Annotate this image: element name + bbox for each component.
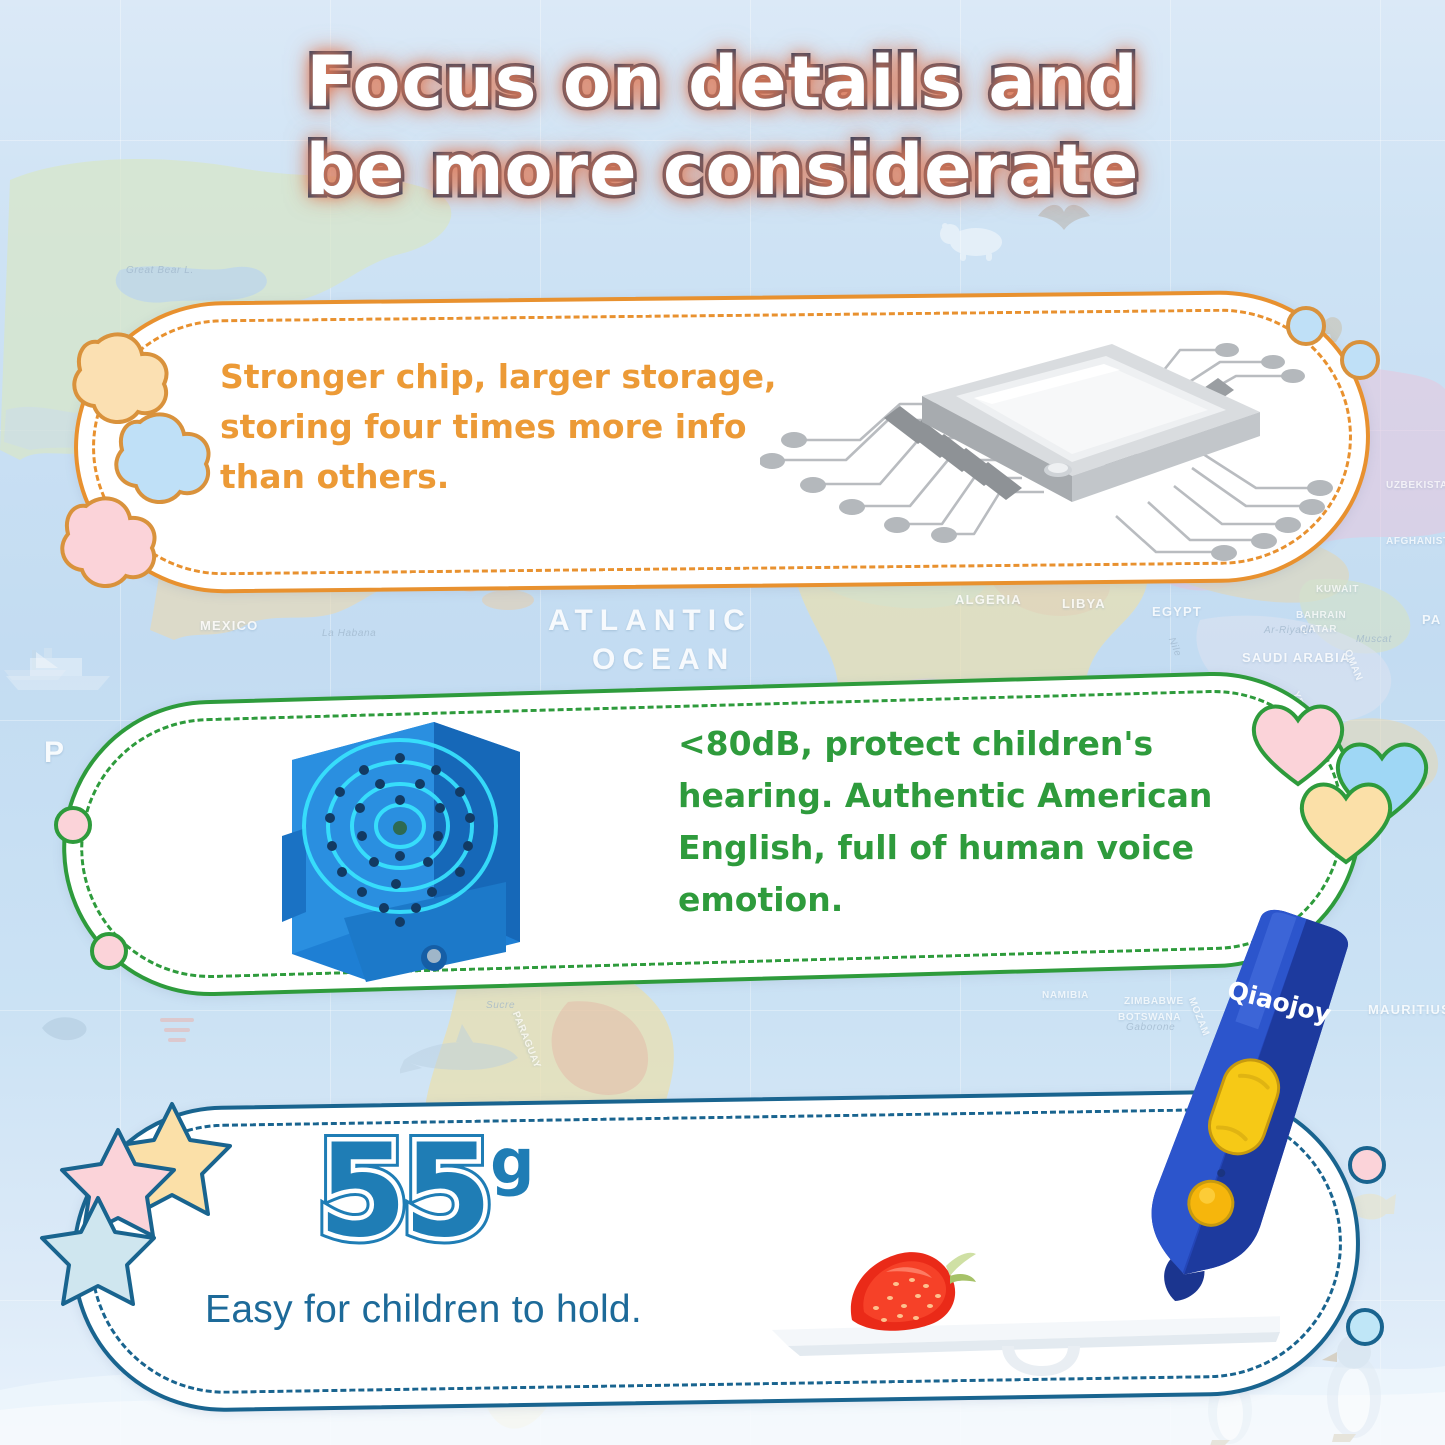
map-label-uzbekistan: UZBEKISTAN <box>1386 480 1445 491</box>
map-label-atlantic: ATLANTIC <box>548 604 752 638</box>
weight-unit: g <box>490 1125 534 1198</box>
heart-yellow-decoration <box>1290 770 1402 870</box>
map-label-great-bear-lake: Great Bear L. <box>126 265 194 276</box>
map-label-atlantic-ocean: OCEAN <box>592 643 735 677</box>
map-label-sucre: Sucre <box>486 1000 515 1011</box>
map-label-kuwait: KUWAIT <box>1316 584 1359 595</box>
audio-card-text: <80dB, protect children's hearing. Authe… <box>678 718 1212 926</box>
map-label-muscat: Muscat <box>1356 634 1392 645</box>
circle-pink-decoration <box>1348 1146 1386 1184</box>
penguin-icon <box>1306 1330 1402 1442</box>
map-label-la-habana: La Habana <box>322 628 376 639</box>
cloud-pink-decoration <box>44 486 172 612</box>
map-label-pa: PA <box>1422 612 1442 627</box>
page-title: Focus on details and be more considerate <box>0 38 1445 214</box>
circle-blue-decoration <box>1286 306 1326 346</box>
circle-blue-decoration <box>1346 1308 1384 1346</box>
circle-pink-decoration <box>90 932 128 970</box>
title-line-1: Focus on details and <box>0 38 1445 126</box>
weight-value: 55 <box>318 1117 488 1266</box>
shark-icon <box>400 1020 520 1084</box>
map-label-saudi-arabia: SAUDI ARABIA <box>1242 650 1351 665</box>
weight-value-display: 55 55 g <box>318 1128 533 1256</box>
circle-pink-decoration <box>54 806 92 844</box>
map-label-pacific: P <box>44 736 71 770</box>
speaker-photo <box>248 696 588 986</box>
whale-icon <box>36 1000 96 1048</box>
title-line-2: be more considerate <box>0 126 1445 214</box>
microchip-photo <box>760 320 1340 570</box>
map-label-egypt: EGYPT <box>1152 604 1202 619</box>
reading-pen-photo: Qiaojoy <box>1085 905 1375 1335</box>
map-label-algeria: ALGERIA <box>955 592 1022 607</box>
chip-card-text: Stronger chip, larger storage, storing f… <box>220 352 777 502</box>
star-blue-decoration <box>36 1190 160 1308</box>
map-label-afghanistan: AFGHANISTAN <box>1386 536 1445 547</box>
map-label-ar-riyadh: Ar-Riyadh <box>1264 625 1314 636</box>
map-label-mauritius: MAURITIUS <box>1368 1002 1445 1017</box>
map-label-mexico: MEXICO <box>200 618 258 633</box>
polar-bear-icon <box>938 214 1010 262</box>
weight-card-caption: Easy for children to hold. <box>205 1288 642 1332</box>
map-label-namibia: NAMIBIA <box>1042 990 1089 1001</box>
map-label-bahrain: BAHRAIN <box>1296 610 1346 621</box>
coral-icon <box>150 1010 204 1052</box>
ship-icon <box>0 640 120 696</box>
circle-blue-decoration <box>1340 340 1380 380</box>
map-label-libya: LIBYA <box>1062 596 1106 611</box>
